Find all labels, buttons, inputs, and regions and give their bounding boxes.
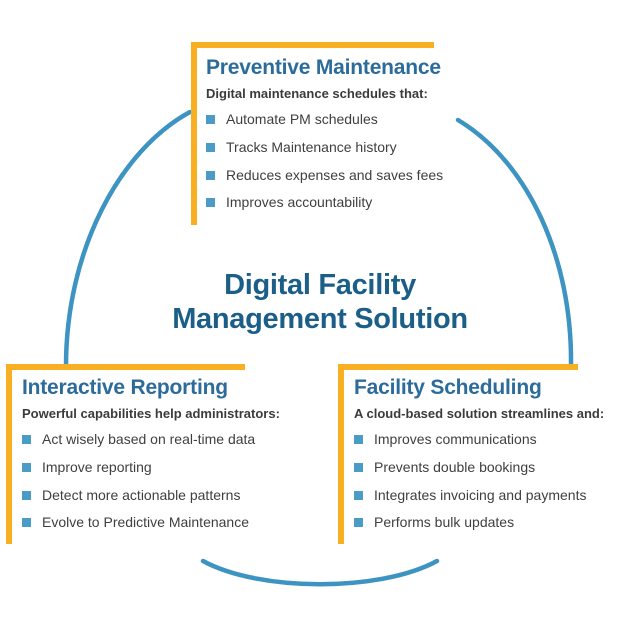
list-item-label: Performs bulk updates: [374, 514, 514, 530]
list-item: Improves communications: [354, 431, 604, 448]
center-title-line-2: Management Solution: [0, 302, 640, 336]
square-bullet-icon: [206, 198, 215, 207]
panel-list-interactive-reporting: Act wisely based on real-time data Impro…: [22, 431, 280, 531]
list-item: Performs bulk updates: [354, 514, 604, 531]
panel-subtitle-preventive-maintenance: Digital maintenance schedules that:: [206, 86, 443, 101]
panel-title-interactive-reporting: Interactive Reporting: [22, 376, 280, 399]
panel-title-preventive-maintenance: Preventive Maintenance: [206, 56, 443, 79]
list-item-label: Automate PM schedules: [226, 111, 378, 127]
list-item: Act wisely based on real-time data: [22, 431, 280, 448]
list-item: Tracks Maintenance history: [206, 139, 443, 156]
list-item-label: Prevents double bookings: [374, 459, 535, 475]
list-item-label: Improves accountability: [226, 194, 372, 210]
panel-list-preventive-maintenance: Automate PM schedules Tracks Maintenance…: [206, 111, 443, 211]
list-item-label: Reduces expenses and saves fees: [226, 167, 443, 183]
list-item-label: Improve reporting: [42, 459, 152, 475]
square-bullet-icon: [206, 143, 215, 152]
list-item-label: Integrates invoicing and payments: [374, 487, 586, 503]
bracket-left-vertical: [6, 364, 12, 544]
bracket-top-horizontal: [191, 42, 434, 48]
panel-interactive-reporting: Interactive Reporting Powerful capabilit…: [22, 376, 280, 531]
panel-preventive-maintenance: Preventive Maintenance Digital maintenan…: [206, 56, 443, 211]
list-item-label: Tracks Maintenance history: [226, 139, 397, 155]
center-title: Digital Facility Management Solution: [0, 268, 640, 336]
bracket-right-vertical: [338, 364, 344, 544]
panel-subtitle-facility-scheduling: A cloud-based solution streamlines and:: [354, 406, 604, 421]
list-item: Reduces expenses and saves fees: [206, 167, 443, 184]
list-item: Detect more actionable patterns: [22, 487, 280, 504]
square-bullet-icon: [354, 463, 363, 472]
square-bullet-icon: [206, 171, 215, 180]
infographic-canvas: Preventive Maintenance Digital maintenan…: [0, 0, 640, 640]
square-bullet-icon: [22, 463, 31, 472]
list-item-label: Act wisely based on real-time data: [42, 431, 255, 447]
list-item-label: Improves communications: [374, 431, 537, 447]
list-item-label: Detect more actionable patterns: [42, 487, 240, 503]
list-item: Improve reporting: [22, 459, 280, 476]
list-item: Prevents double bookings: [354, 459, 604, 476]
list-item-label: Evolve to Predictive Maintenance: [42, 514, 249, 530]
panel-subtitle-interactive-reporting: Powerful capabilities help administrator…: [22, 406, 280, 421]
square-bullet-icon: [22, 435, 31, 444]
list-item: Improves accountability: [206, 194, 443, 211]
square-bullet-icon: [354, 435, 363, 444]
list-item: Integrates invoicing and payments: [354, 487, 604, 504]
square-bullet-icon: [354, 491, 363, 500]
list-item: Evolve to Predictive Maintenance: [22, 514, 280, 531]
panel-list-facility-scheduling: Improves communications Prevents double …: [354, 431, 604, 531]
square-bullet-icon: [22, 518, 31, 527]
bracket-top-vertical: [191, 42, 197, 225]
square-bullet-icon: [354, 518, 363, 527]
center-title-line-1: Digital Facility: [0, 268, 640, 302]
square-bullet-icon: [22, 491, 31, 500]
bracket-left-horizontal: [6, 364, 245, 370]
list-item: Automate PM schedules: [206, 111, 443, 128]
bracket-right-horizontal: [338, 364, 578, 370]
panel-title-facility-scheduling: Facility Scheduling: [354, 376, 604, 399]
arc-bottom: [203, 561, 437, 584]
panel-facility-scheduling: Facility Scheduling A cloud-based soluti…: [354, 376, 604, 531]
square-bullet-icon: [206, 115, 215, 124]
